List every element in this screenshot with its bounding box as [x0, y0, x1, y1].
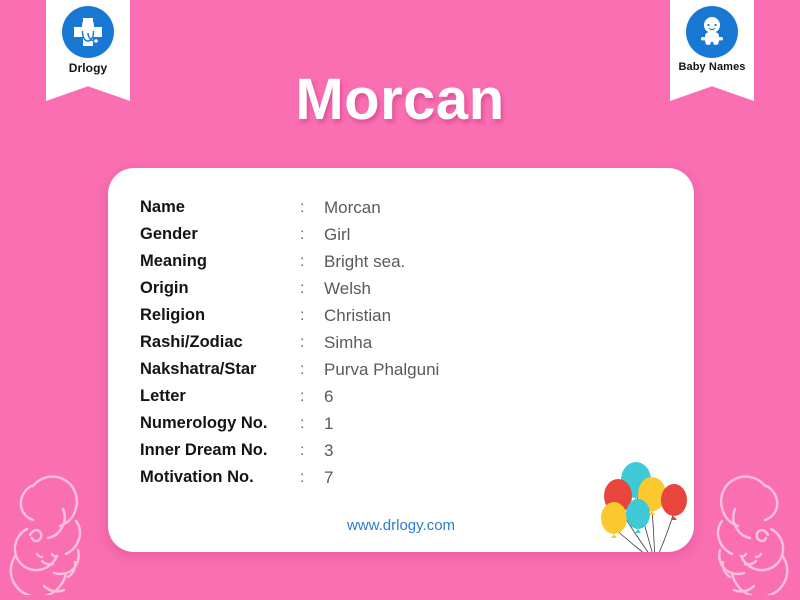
row-label: Inner Dream No.: [140, 437, 300, 464]
row-label: Religion: [140, 302, 300, 329]
table-body: Name : Morcan Gender : Girl Meaning : Br…: [140, 194, 439, 491]
row-value: 1: [322, 410, 439, 437]
row-separator: :: [300, 356, 322, 383]
row-separator: :: [300, 329, 322, 356]
table-row: Nakshatra/Star : Purva Phalguni: [140, 356, 439, 383]
row-label: Letter: [140, 383, 300, 410]
row-value: 6: [322, 383, 439, 410]
baby-name-card-page: Drlogy Baby Names Morcan: [0, 0, 800, 600]
row-label: Rashi/Zodiac: [140, 329, 300, 356]
row-label: Numerology No.: [140, 410, 300, 437]
row-label: Gender: [140, 221, 300, 248]
table-row: Inner Dream No. : 3: [140, 437, 439, 464]
name-details-card: Name : Morcan Gender : Girl Meaning : Br…: [108, 168, 694, 552]
row-value: Bright sea.: [322, 248, 439, 275]
row-separator: :: [300, 410, 322, 437]
row-label: Motivation No.: [140, 464, 300, 491]
row-value: Welsh: [322, 275, 439, 302]
row-separator: :: [300, 248, 322, 275]
row-separator: :: [300, 302, 322, 329]
row-value: Simha: [322, 329, 439, 356]
drlogy-medical-cross-doctor-icon: [62, 6, 114, 58]
row-value: Morcan: [322, 194, 439, 221]
row-value: 7: [322, 464, 439, 491]
row-label: Nakshatra/Star: [140, 356, 300, 383]
table-row: Name : Morcan: [140, 194, 439, 221]
balloon-cluster-icon: [592, 450, 694, 552]
table-row: Numerology No. : 1: [140, 410, 439, 437]
mother-baby-line-art-icon: [696, 455, 800, 600]
table-row: Motivation No. : 7: [140, 464, 439, 491]
table-row: Meaning : Bright sea.: [140, 248, 439, 275]
baby-icon: [686, 6, 738, 58]
row-value: Purva Phalguni: [322, 356, 439, 383]
name-details-table: Name : Morcan Gender : Girl Meaning : Br…: [140, 194, 439, 491]
row-label: Name: [140, 194, 300, 221]
row-separator: :: [300, 383, 322, 410]
row-label: Meaning: [140, 248, 300, 275]
table-row: Rashi/Zodiac : Simha: [140, 329, 439, 356]
table-row: Letter : 6: [140, 383, 439, 410]
row-separator: :: [300, 437, 322, 464]
table-row: Religion : Christian: [140, 302, 439, 329]
row-separator: :: [300, 275, 322, 302]
row-separator: :: [300, 194, 322, 221]
row-value: 3: [322, 437, 439, 464]
row-separator: :: [300, 464, 322, 491]
row-value: Girl: [322, 221, 439, 248]
row-label: Origin: [140, 275, 300, 302]
row-separator: :: [300, 221, 322, 248]
page-title: Morcan: [0, 66, 800, 133]
table-row: Origin : Welsh: [140, 275, 439, 302]
row-value: Christian: [322, 302, 439, 329]
table-row: Gender : Girl: [140, 221, 439, 248]
mother-baby-line-art-icon: [0, 455, 102, 600]
